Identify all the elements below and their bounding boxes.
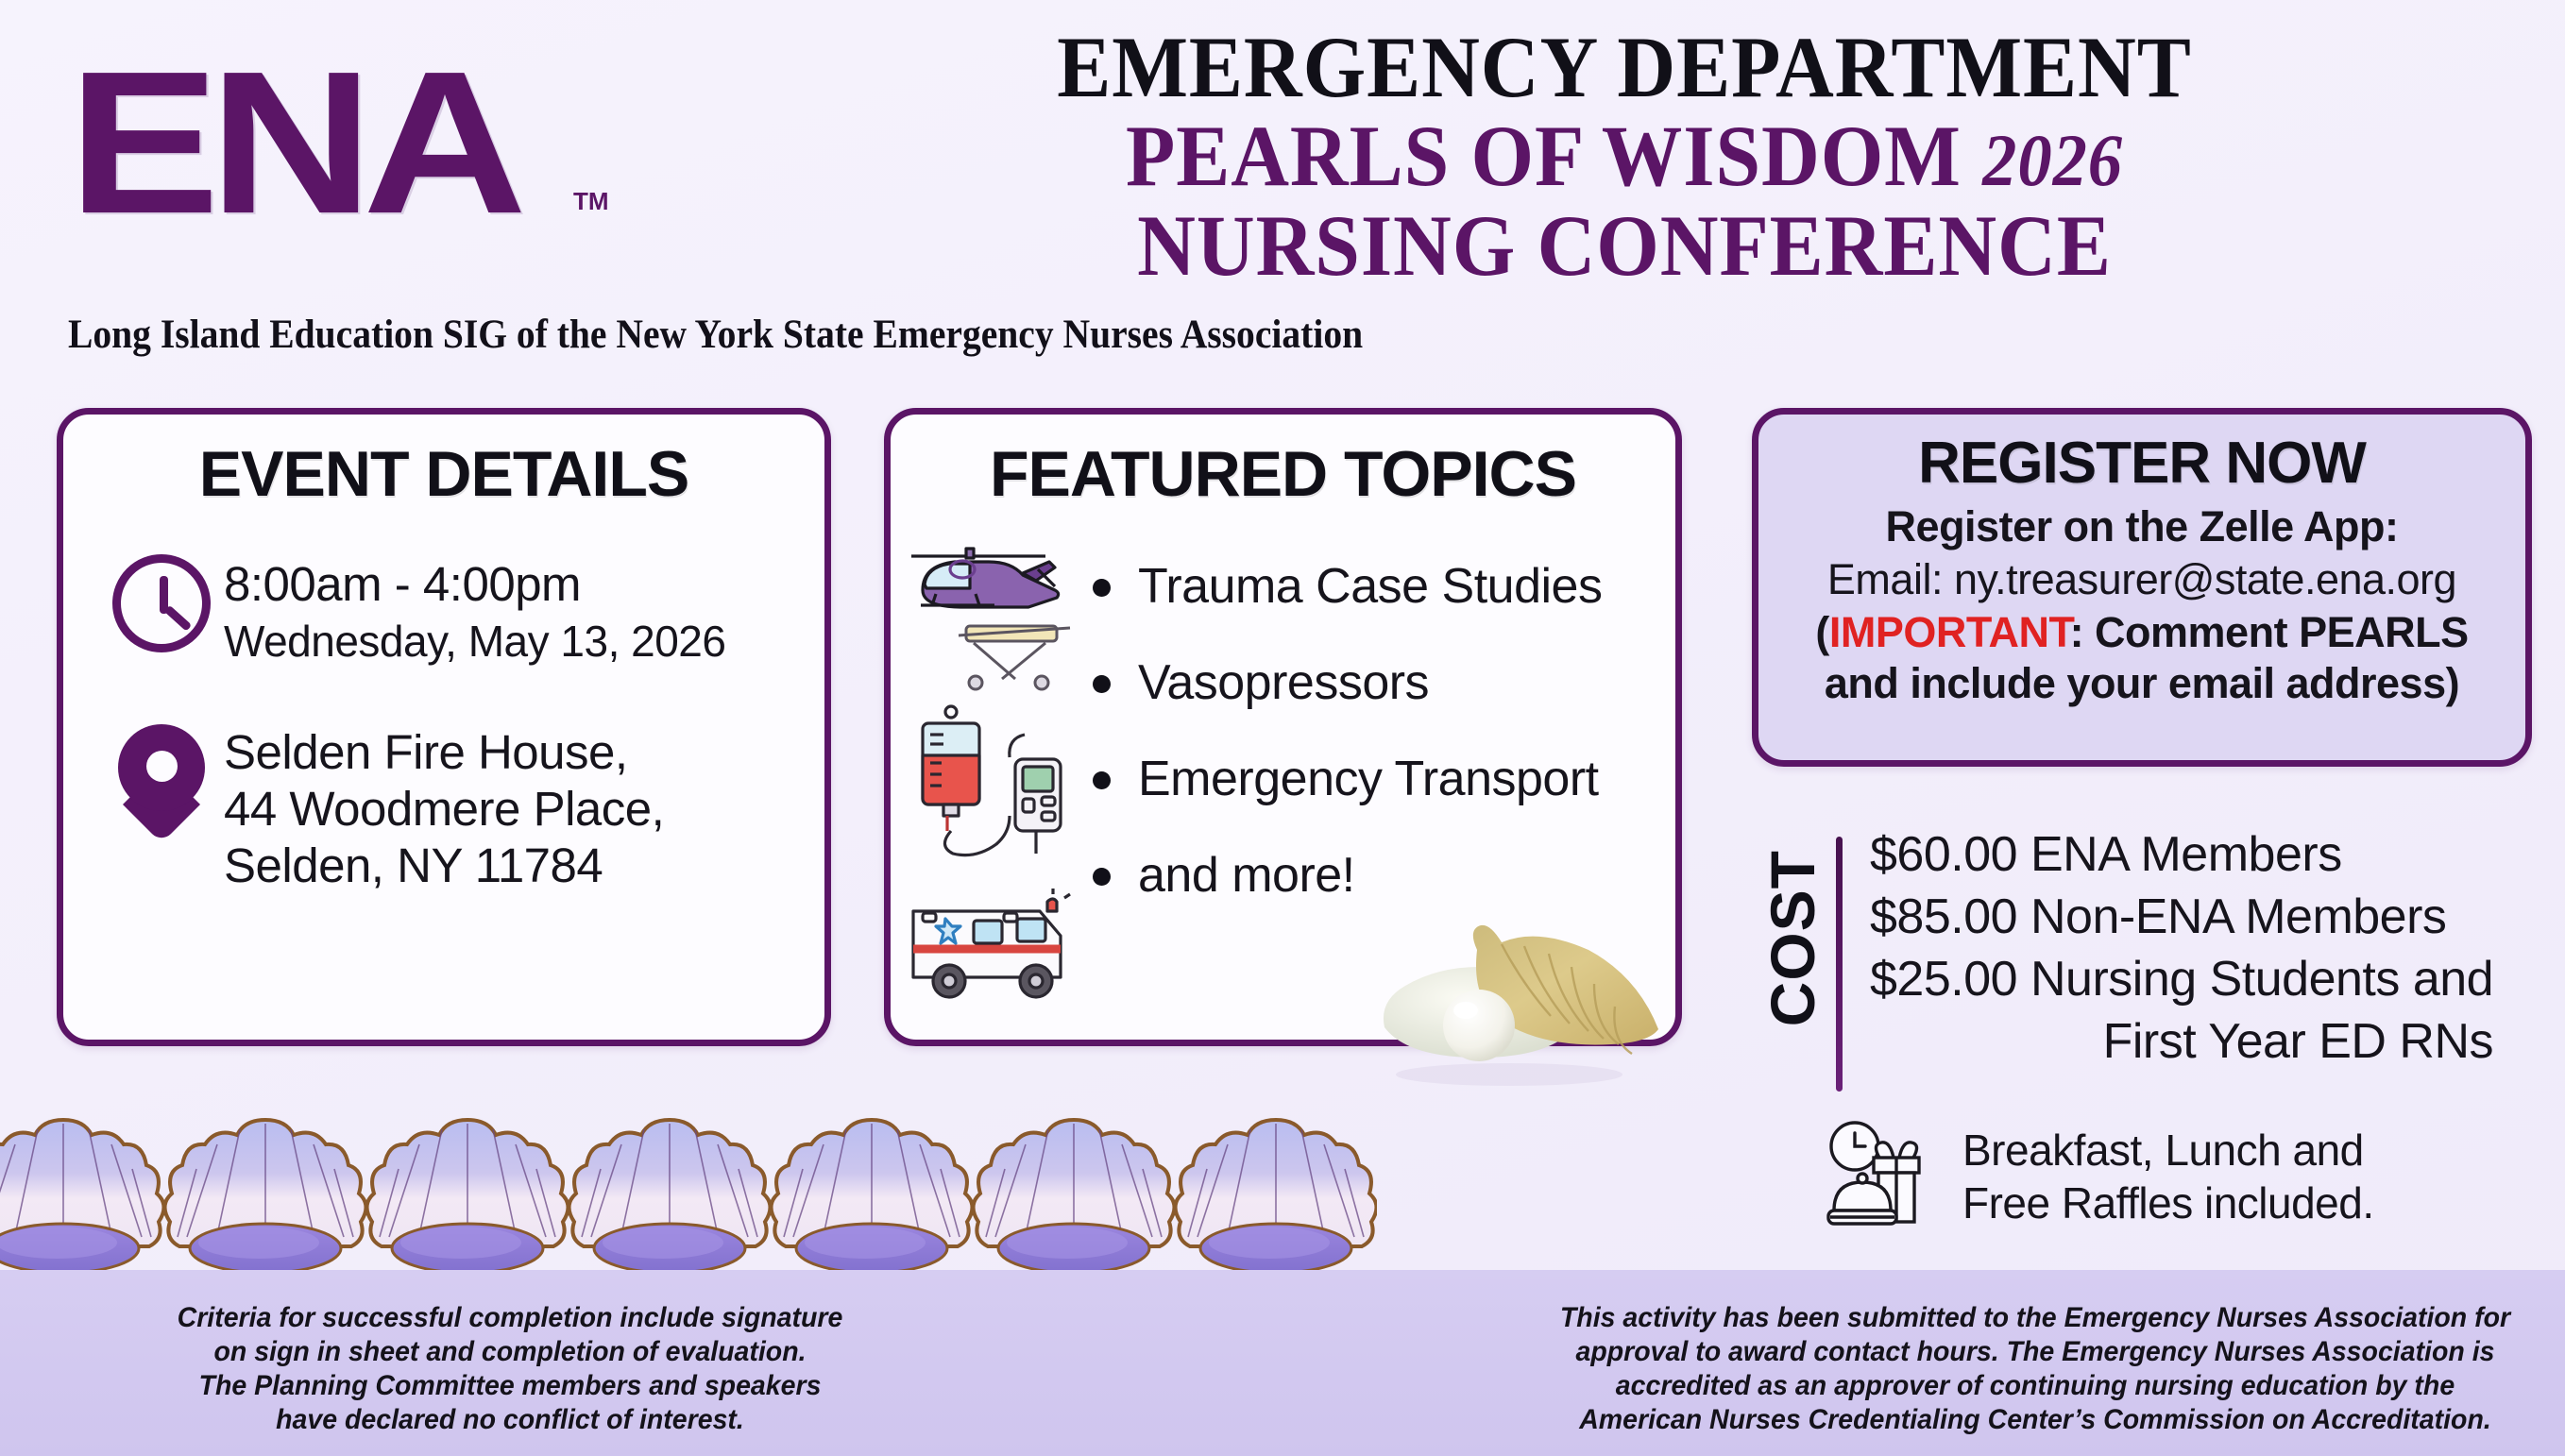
included-icons [1823,1116,1962,1239]
included-line-1: Breakfast, Lunch and [1962,1124,2374,1177]
organization-line: Long Island Education SIG of the New Yor… [68,312,1363,358]
ambulance-icon [904,866,1083,1031]
footer-accreditation-text: This activity has been submitted to the … [1537,1301,2534,1437]
included-line-2: Free Raffles included. [1962,1177,2374,1229]
title-year: 2026 [1982,119,2123,201]
title-line-pearls-of-wisdom: PEARLS OF WISDOM 2026 [904,115,2344,196]
shell-icon [366,1107,569,1281]
ena-logo: ENA TM [68,45,635,244]
included-block: Breakfast, Lunch and Free Raffles includ… [1823,1116,2540,1239]
cost-line-student: $25.00 Nursing Students and [1870,948,2540,1010]
event-date: Wednesday, May 13, 2026 [224,613,725,669]
helicopter-stretcher-icon [904,535,1083,701]
page-title: EMERGENCY DEPARTMENT PEARLS OF WISDOM 20… [850,26,2399,286]
included-text: Breakfast, Lunch and Free Raffles includ… [1962,1116,2374,1239]
register-zelle-line: Register on the Zelle App: [1758,502,2525,551]
register-email-line[interactable]: Email: ny.treasurer@state.ena.org [1758,555,2525,604]
cost-divider [1836,837,1843,1092]
register-now-title: REGISTER NOW [1758,430,2525,497]
list-item: Trauma Case Studies [1083,558,1675,615]
footer-right-line: accredited as an approver of continuing … [1537,1369,2534,1403]
list-item: Emergency Transport [1083,751,1675,807]
title-pearls-text: PEARLS OF WISDOM [1126,108,1962,204]
register-important-line: (IMPORTANT: Comment PEARLS [1758,608,2525,657]
event-street: 44 Woodmere Place, [224,781,664,838]
shell-icon [771,1107,973,1281]
scallop-shell-row [0,1107,1435,1281]
featured-topics-title: FEATURED TOPICS [891,437,1675,511]
clock-icon [1831,1123,1878,1170]
shell-icon [973,1107,1175,1281]
title-line-nursing-conference: NURSING CONFERENCE [904,205,2344,286]
shell-icon [1175,1107,1377,1281]
cost-label: COST [1757,850,1828,1026]
footer-right-line: American Nurses Credentialing Center’s C… [1537,1403,2534,1437]
shell-icon [569,1107,771,1281]
footer-left-line: Criteria for successful completion inclu… [169,1301,851,1335]
trademark-icon: TM [573,187,609,216]
featured-topics-icon-column [891,535,1083,1031]
event-city-state-zip: Selden, NY 11784 [224,838,664,894]
footer-criteria-text: Criteria for successful completion inclu… [169,1301,851,1437]
important-rest: : Comment PEARLS [2070,608,2469,656]
event-address-text: Selden Fire House, 44 Woodmere Place, Se… [224,719,664,894]
title-line-emergency-department: EMERGENCY DEPARTMENT [904,26,2344,108]
event-time-text: 8:00am - 4:00pm Wednesday, May 13, 2026 [224,550,725,669]
footer-left-line: have declared no conflict of interest. [169,1403,851,1437]
shell-icon [164,1107,366,1281]
register-important-line2: and include your email address) [1758,659,2525,708]
event-venue: Selden Fire House, [224,724,664,781]
oyster-pearl-illustration [1367,916,1679,1086]
important-label: IMPORTANT [1829,608,2070,656]
event-time-row: 8:00am - 4:00pm Wednesday, May 13, 2026 [63,550,824,669]
list-item: Vasopressors [1083,654,1675,711]
footer-left-line: on sign in sheet and completion of evalu… [169,1335,851,1369]
map-pin-icon [112,719,224,830]
event-time: 8:00am - 4:00pm [224,556,725,613]
event-location-row: Selden Fire House, 44 Woodmere Place, Se… [63,719,824,894]
important-paren: ( [1815,608,1829,656]
cost-line-student-cont: First Year ED RNs [1870,1010,2540,1073]
cost-line-nonmember: $85.00 Non-ENA Members [1870,886,2540,948]
footer-left-line: The Planning Committee members and speak… [169,1369,851,1403]
event-details-title: EVENT DETAILS [63,437,824,511]
cost-line-member: $60.00 ENA Members [1870,823,2540,886]
event-details-card: EVENT DETAILS 8:00am - 4:00pm Wednesday,… [57,408,831,1046]
list-item: and more! [1083,847,1675,904]
cost-block: COST $60.00 ENA Members $85.00 Non-ENA M… [1757,823,2540,1107]
footer-right-line: This activity has been submitted to the … [1537,1301,2534,1335]
header: ENA TM Long Island Education SIG of the … [0,0,2565,378]
footer-right-line: approval to award contact hours. The Eme… [1537,1335,2534,1369]
iv-bag-infusion-pump-icon [904,701,1083,866]
cost-lines: $60.00 ENA Members $85.00 Non-ENA Member… [1870,823,2540,1073]
shell-icon [0,1107,164,1281]
register-now-card[interactable]: REGISTER NOW Register on the Zelle App: … [1752,408,2532,767]
clock-icon [112,550,224,662]
